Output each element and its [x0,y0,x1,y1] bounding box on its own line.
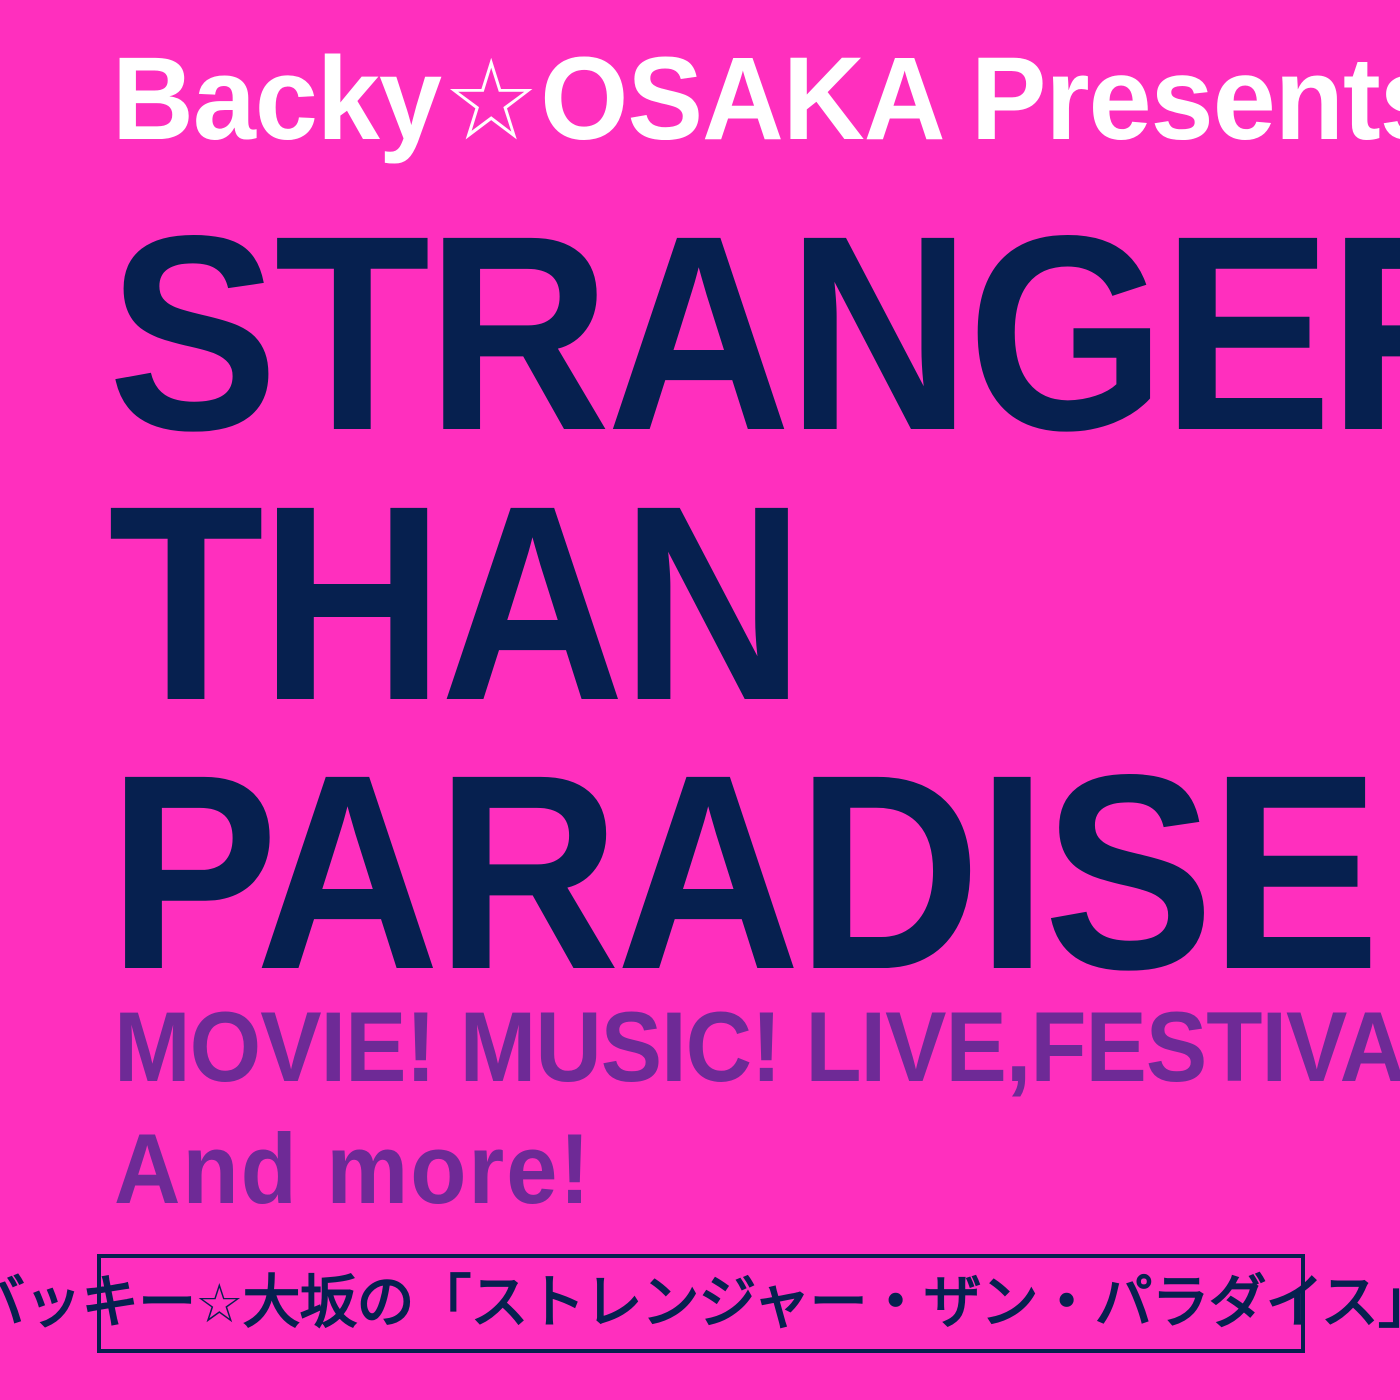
star-icon: ☆ [441,45,540,157]
title-line-stranger: STRANGER [108,196,1385,471]
main-title-block: STRANGER THAN PARADISE [108,196,1348,981]
title-line-paradise: PARADISE [108,735,1385,1010]
presenter-prefix-text: Backy [112,40,441,158]
star-icon-japanese: ☆ [195,1272,242,1335]
poster-canvas: Backy☆OSAKA Presents STRANGER THAN PARAD… [0,0,1400,1400]
tagline-line-1: MOVIE! MUSIC! LIVE,FESTIVAL! [114,998,1374,1097]
japanese-subtitle-text: バッキー☆大坂の「ストレンジャー・ザン・パラダイス」 [0,1273,1400,1331]
presenter-suffix-text: OSAKA Presents [540,40,1400,158]
tagline-line-2: And more! [114,1120,592,1219]
presenter-credit-line: Backy☆OSAKA Presents [112,34,1264,164]
japanese-prefix-text: バッキー [0,1268,195,1336]
japanese-subtitle-box: バッキー☆大坂の「ストレンジャー・ザン・パラダイス」 [97,1254,1305,1353]
japanese-suffix-text: 大坂の「ストレンジャー・ザン・パラダイス」 [243,1268,1400,1336]
title-line-than: THAN [108,466,1385,741]
